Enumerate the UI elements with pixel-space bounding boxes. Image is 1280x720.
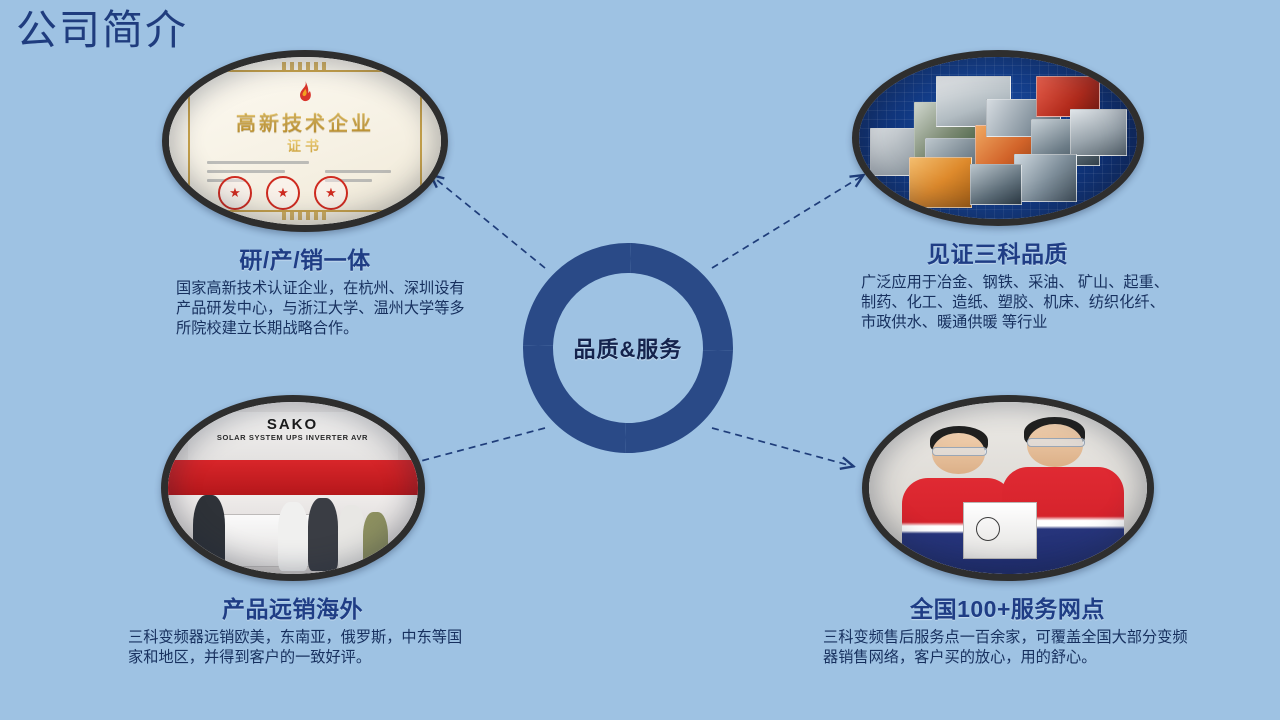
safety-goggles-icon [932, 447, 987, 456]
safety-goggles-icon [1027, 438, 1085, 447]
quadrant-bottom-right: 全国100+服务网点 三科变频售后服务点一百余家，可覆盖全国大部分变频器销售网络… [815, 395, 1200, 668]
visitor-figure [338, 505, 366, 570]
quadrant-heading: 研/产/销一体 [140, 241, 470, 275]
quadrant-heading: 见证三科品质 [825, 235, 1170, 269]
technicians-image [862, 395, 1154, 581]
applications-collage-image [852, 50, 1144, 226]
flame-logo-icon [292, 79, 318, 105]
red-seal-icon: ★ [266, 176, 300, 210]
collage-artwork [859, 57, 1137, 219]
quadrant-heading: 产品远销海外 [120, 590, 465, 624]
visitor-figure [363, 512, 388, 570]
quadrant-body: 三科变频器远销欧美，东南亚，俄罗斯，中东等国家和地区，并得到客户的一致好评。 [120, 628, 465, 668]
certificate-ornament-bottom [282, 212, 328, 220]
booth-tagline-label: SOLAR SYSTEM UPS INVERTER AVR [188, 433, 398, 442]
certificate-artwork: 高新技术企业 证书 ★ ★ ★ [169, 57, 441, 225]
box-logo-icon [976, 517, 1000, 541]
booth-brand-label: SAKO [188, 416, 398, 433]
certificate-image: 高新技术企业 证书 ★ ★ ★ [162, 50, 448, 232]
booth-red-wall [168, 460, 418, 494]
visitor-figure [193, 495, 226, 571]
center-ring-label: 品质&服务 [521, 241, 735, 455]
quadrant-heading: 全国100+服务网点 [815, 590, 1200, 624]
quadrant-body: 国家高新技术认证企业，在杭州、深圳设有产品研发中心，与浙江大学、温州大学等多所院… [140, 279, 470, 340]
visitor-figure [278, 502, 308, 571]
certificate-subtitle: 证书 [169, 136, 441, 156]
slide-root: 公司简介 品质&服务 [0, 0, 1280, 720]
certificate-seals: ★ ★ ★ [218, 176, 348, 210]
center-ring: 品质&服务 [521, 241, 735, 455]
expo-booth-image: SAKO SOLAR SYSTEM UPS INVERTER AVR [161, 395, 425, 581]
quadrant-body: 三科变频售后服务点一百余家，可覆盖全国大部分变频器销售网络，客户买的放心，用的舒… [815, 628, 1200, 668]
red-seal-icon: ★ [218, 176, 252, 210]
visitor-figure [308, 498, 338, 570]
certificate-ornament-top [282, 62, 328, 70]
booth-banner: SAKO SOLAR SYSTEM UPS INVERTER AVR [188, 412, 398, 463]
quadrant-body: 广泛应用于冶金、钢铁、采油、 矿山、起重、制药、化工、造纸、塑胶、机床、纺织化纤… [825, 273, 1170, 334]
red-seal-icon: ★ [314, 176, 348, 210]
quadrant-top-right: 见证三科品质 广泛应用于冶金、钢铁、采油、 矿山、起重、制药、化工、造纸、塑胶、… [825, 50, 1170, 334]
booth-artwork: SAKO SOLAR SYSTEM UPS INVERTER AVR [168, 402, 418, 574]
technicians-artwork [869, 402, 1147, 574]
page-title: 公司简介 [16, 6, 188, 55]
quadrant-top-left: 高新技术企业 证书 ★ ★ ★ 研/产/销一体 国家高新技术认证企业，在杭州、深… [140, 50, 470, 340]
quadrant-bottom-left: SAKO SOLAR SYSTEM UPS INVERTER AVR 产品远销海… [120, 395, 465, 668]
product-box [963, 502, 1037, 559]
certificate-title: 高新技术企业 [169, 107, 441, 136]
